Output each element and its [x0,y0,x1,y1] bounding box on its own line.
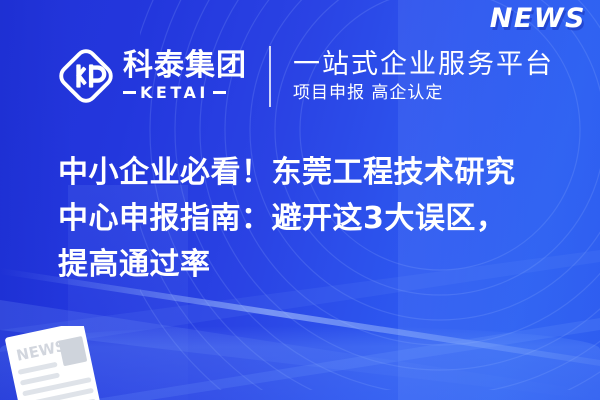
headline-line-2: 中心申报指南：避开这3大误区， [58,196,563,242]
vertical-divider [269,46,271,107]
slogan-sub: 项目申报 高企认定 [293,84,554,103]
logo-name-en-row: KETAI [123,85,247,101]
slogan-main: 一站式企业服务平台 [293,50,554,80]
logo-name-en: KETAI [140,85,209,101]
brand-header: 科泰集团 KETAI 一站式企业服务平台 项目申报 高企认定 [55,40,554,112]
logo-dash-left [123,91,136,94]
slogan-block: 一站式企业服务平台 项目申报 高企认定 [293,44,554,108]
headline: 中小企业必看！东莞工程技术研究 中心申报指南：避开这3大误区， 提高通过率 [58,150,563,288]
ketai-logo-icon [55,45,117,107]
news-badge: NEWS [490,3,586,34]
logo-name-cn: 科泰集团 [123,51,247,82]
logo-wordmark: 科泰集团 KETAI [123,45,247,107]
headline-line-3: 提高通过率 [58,242,563,288]
logo-dash-right [213,91,226,94]
headline-line-1: 中小企业必看！东莞工程技术研究 [58,150,563,196]
newspaper-icon: NEWS [4,326,108,400]
news-banner: NEWS 科泰集团 KETAI [0,0,600,400]
